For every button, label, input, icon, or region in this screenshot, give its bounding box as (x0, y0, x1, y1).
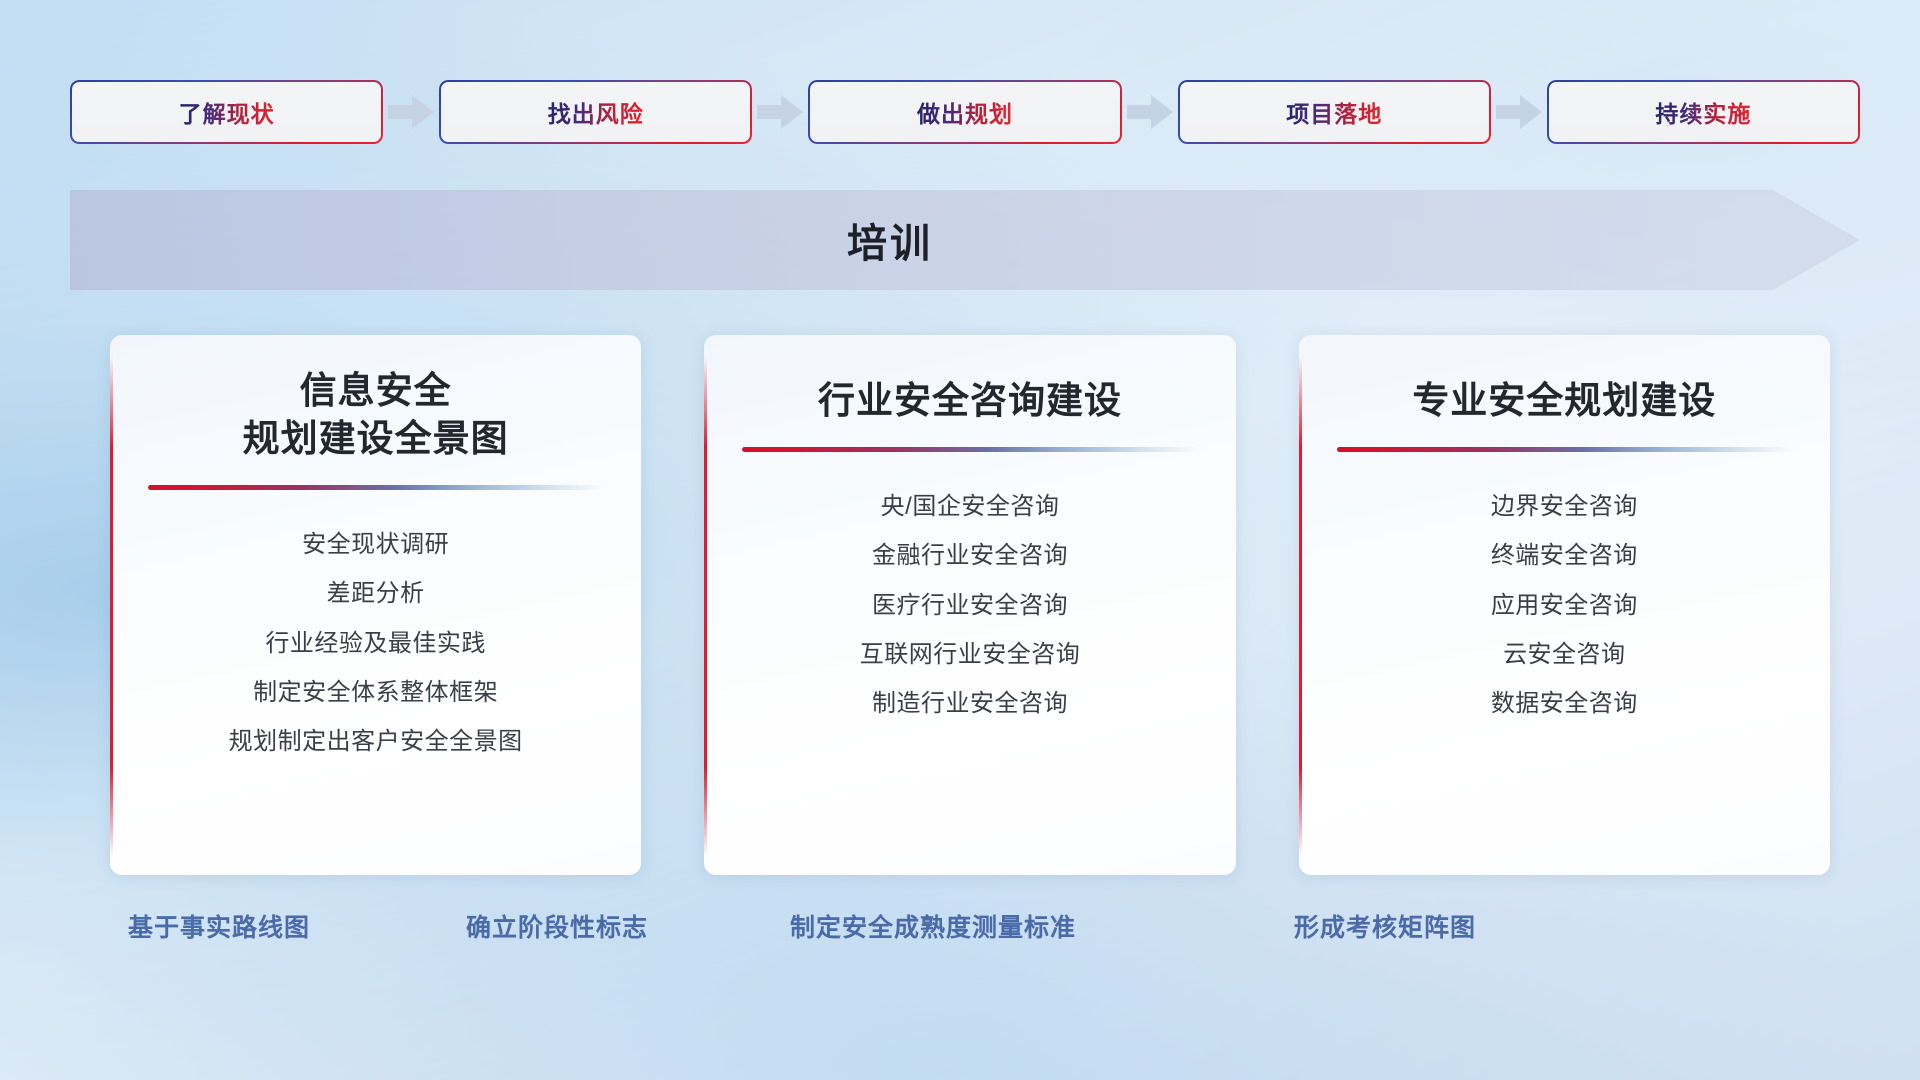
card-industry-security-consulting[interactable]: 行业安全咨询建设 央/国企安全咨询 金融行业安全咨询 医疗行业安全咨询 互联网行… (704, 335, 1235, 875)
list-item: 制造行业安全咨询 (734, 683, 1205, 724)
outcome-label-2: 确立阶段性标志 (466, 908, 648, 944)
chevron-right-arrow-icon (383, 92, 439, 132)
chevron-right-arrow-icon (752, 92, 808, 132)
chevron-right-arrow-icon (1491, 92, 1547, 132)
outcome-label-3: 制定安全成熟度测量标准 (790, 908, 1076, 944)
list-item: 安全现状调研 (140, 524, 611, 565)
outcome-labels-row: 基于事实路线图 确立阶段性标志 制定安全成熟度测量标准 形成考核矩阵图 (0, 908, 1920, 958)
outcome-label-1: 基于事实路线图 (128, 908, 310, 944)
list-item: 云安全咨询 (1329, 634, 1800, 675)
card-information-security-blueprint[interactable]: 信息安全 规划建设全景图 安全现状调研 差距分析 行业经验及最佳实践 制定安全体… (110, 335, 641, 875)
training-banner: 培训 (70, 190, 1860, 290)
list-item: 差距分析 (140, 573, 611, 614)
card-divider (1337, 447, 1792, 452)
training-banner-title: 培训 (70, 190, 1710, 290)
card-professional-security-planning[interactable]: 专业安全规划建设 边界安全咨询 终端安全咨询 应用安全咨询 云安全咨询 数据安全… (1299, 335, 1830, 875)
list-item: 行业经验及最佳实践 (140, 623, 611, 664)
list-item: 边界安全咨询 (1329, 486, 1800, 527)
process-step-label: 做出规划 (917, 95, 1013, 129)
card-title: 专业安全规划建设 (1329, 377, 1800, 425)
cards-row: 信息安全 规划建设全景图 安全现状调研 差距分析 行业经验及最佳实践 制定安全体… (110, 335, 1830, 875)
outcome-label-4: 形成考核矩阵图 (1294, 908, 1476, 944)
list-item: 应用安全咨询 (1329, 585, 1800, 626)
process-step-label: 找出风险 (548, 95, 644, 129)
process-step-4[interactable]: 项目落地 (1178, 80, 1491, 144)
list-item: 数据安全咨询 (1329, 683, 1800, 724)
process-flow-row: 了解现状 找出风险 做出规划 项目落地 持续实施 (70, 78, 1860, 146)
list-item: 制定安全体系整体框架 (140, 672, 611, 713)
process-step-3[interactable]: 做出规划 (808, 80, 1121, 144)
list-item: 互联网行业安全咨询 (734, 634, 1205, 675)
list-item: 央/国企安全咨询 (734, 486, 1205, 527)
process-step-label: 持续实施 (1655, 95, 1751, 129)
card-title: 行业安全咨询建设 (734, 377, 1205, 425)
card-divider (742, 447, 1197, 452)
list-item: 终端安全咨询 (1329, 535, 1800, 576)
card-item-list: 央/国企安全咨询 金融行业安全咨询 医疗行业安全咨询 互联网行业安全咨询 制造行… (734, 486, 1205, 724)
chevron-right-arrow-icon (1122, 92, 1178, 132)
card-item-list: 安全现状调研 差距分析 行业经验及最佳实践 制定安全体系整体框架 规划制定出客户… (140, 524, 611, 762)
process-step-2[interactable]: 找出风险 (439, 80, 752, 144)
list-item: 规划制定出客户安全全景图 (140, 721, 611, 762)
card-divider (148, 485, 603, 490)
list-item: 金融行业安全咨询 (734, 535, 1205, 576)
slide-canvas: 了解现状 找出风险 做出规划 项目落地 持续实施 (0, 0, 1920, 1080)
list-item: 医疗行业安全咨询 (734, 585, 1205, 626)
process-step-label: 项目落地 (1286, 95, 1382, 129)
card-title: 信息安全 规划建设全景图 (140, 367, 611, 463)
card-item-list: 边界安全咨询 终端安全咨询 应用安全咨询 云安全咨询 数据安全咨询 (1329, 486, 1800, 724)
process-step-5[interactable]: 持续实施 (1547, 80, 1860, 144)
process-step-label: 了解现状 (179, 95, 275, 129)
process-step-1[interactable]: 了解现状 (70, 80, 383, 144)
